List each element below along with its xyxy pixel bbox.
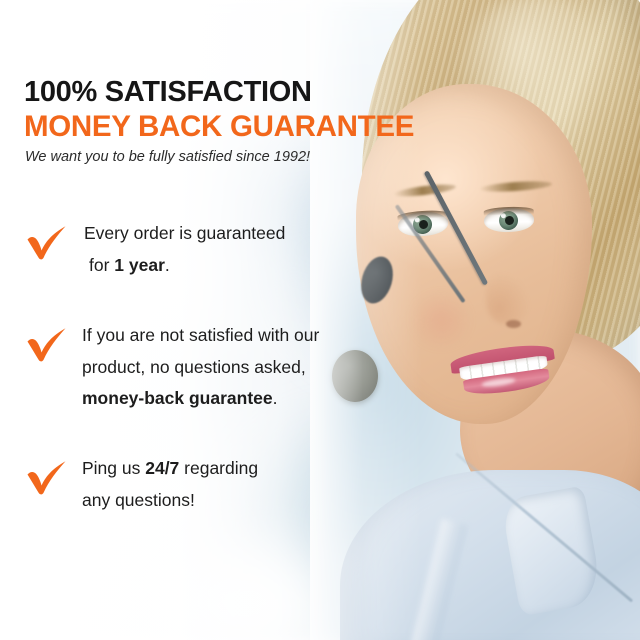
list-item-line: Ping us 24/7 regarding xyxy=(82,453,444,485)
orange-checkmark-icon xyxy=(24,457,70,497)
list-item-line: product, no questions asked, xyxy=(82,352,444,384)
subheadline: We want you to be fully satisfied since … xyxy=(25,149,310,165)
list-item: Every order is guaranteed for 1 year. xyxy=(24,218,444,282)
list-item-line: money-back guarantee. xyxy=(82,383,444,415)
list-item-emphasis: money-back guarantee xyxy=(82,388,273,408)
banner-content: 100% SATISFACTION MONEY BACK GUARANTEE W… xyxy=(24,0,454,640)
orange-checkmark-icon xyxy=(24,222,70,262)
list-item-text: Every order is guaranteed for 1 year. xyxy=(84,218,444,282)
list-item-emphasis: 1 year xyxy=(114,255,165,275)
list-item-text: Ping us 24/7 regarding any questions! xyxy=(82,453,444,517)
list-item-emphasis: 24/7 xyxy=(145,458,179,478)
headline-primary: 100% SATISFACTION xyxy=(24,76,312,109)
list-item-line: any questions! xyxy=(82,485,444,517)
list-item-line: If you are not satisfied with our xyxy=(82,320,444,352)
satisfaction-guarantee-banner: 100% SATISFACTION MONEY BACK GUARANTEE W… xyxy=(0,0,640,640)
list-item-text: If you are not satisfied with our produc… xyxy=(82,320,444,416)
headline-accent: MONEY BACK GUARANTEE xyxy=(24,110,414,144)
list-item-line: Every order is guaranteed xyxy=(84,223,285,243)
list-item-line: for 1 year. xyxy=(84,250,444,282)
list-item: If you are not satisfied with our produc… xyxy=(24,320,444,416)
list-item: Ping us 24/7 regarding any questions! xyxy=(24,453,444,517)
guarantee-list: Every order is guaranteed for 1 year. If… xyxy=(24,218,444,555)
orange-checkmark-icon xyxy=(24,324,70,364)
